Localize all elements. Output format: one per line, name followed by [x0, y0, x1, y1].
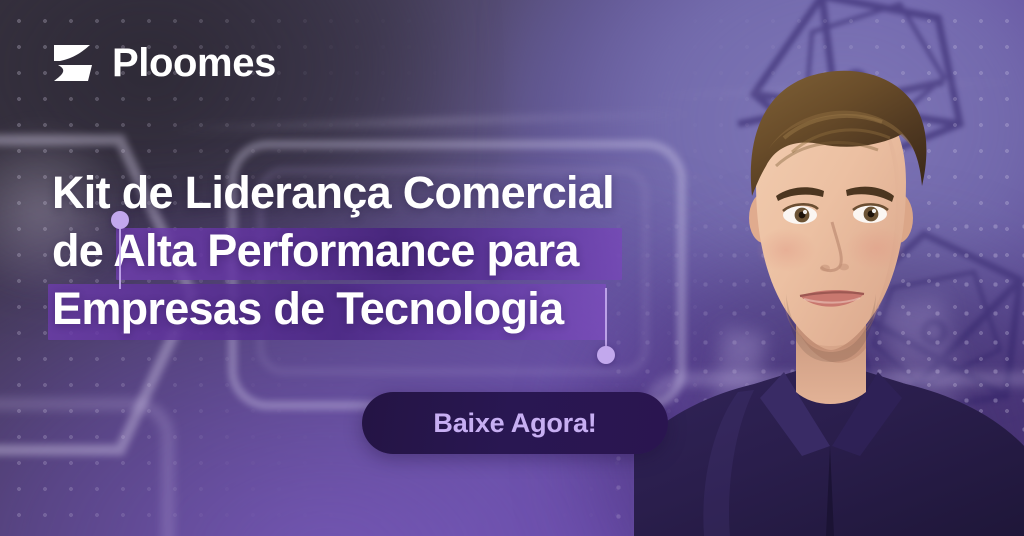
- ploomes-leaf-arrow-icon: [52, 42, 96, 84]
- ploomes-promo-banner: Ploomes Kit de Liderança Comercial de Al…: [0, 0, 1024, 536]
- download-cta-label: Baixe Agora!: [433, 410, 596, 437]
- download-cta-button[interactable]: Baixe Agora!: [362, 392, 668, 454]
- accent-dot-icon: [597, 346, 615, 364]
- ploomes-logo[interactable]: Ploomes: [52, 42, 276, 84]
- headline-line-1-text: Kit de Liderança Comercial: [52, 167, 614, 218]
- ploomes-wordmark: Ploomes: [112, 43, 276, 83]
- accent-line: [119, 225, 121, 289]
- headline-line-2-text: de Alta Performance para: [52, 225, 579, 276]
- headline-line-2: de Alta Performance para: [52, 222, 672, 280]
- accent-line: [605, 288, 607, 352]
- headline-line-1: Kit de Liderança Comercial: [52, 164, 672, 222]
- headline-line-3-text: Empresas de Tecnologia: [52, 283, 563, 334]
- smiling-businessman-portrait: [634, 0, 1024, 536]
- headline: Kit de Liderança Comercial de Alta Perfo…: [52, 164, 672, 338]
- headline-line-3: Empresas de Tecnologia: [52, 280, 672, 338]
